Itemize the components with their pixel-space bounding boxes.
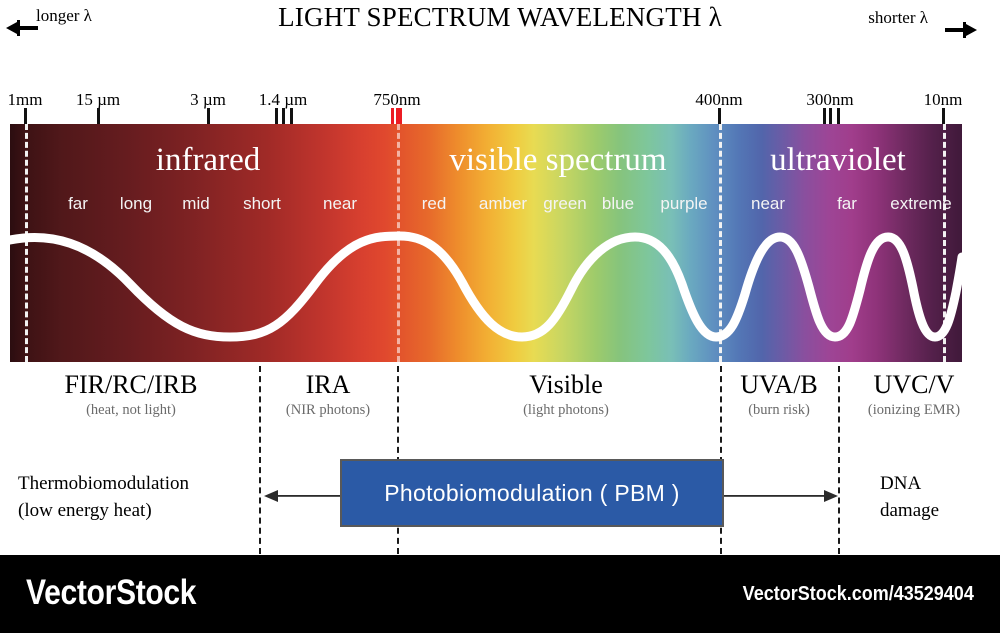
dna-damage-line2: damage <box>880 497 939 524</box>
pbm-arrow-right-icon <box>724 486 840 506</box>
spectrum-subregion-label: green <box>543 194 586 214</box>
wavelength-tick-label: 1mm <box>8 90 43 110</box>
spectrum-region-title: infrared <box>156 142 260 179</box>
thermobiomodulation-line2: (low energy heat) <box>18 497 189 524</box>
spectrum-subregion-label: extreme <box>890 194 951 214</box>
wavelength-tick-mark <box>282 108 285 124</box>
spectrum-zone: UVC/V(ionizing EMR) <box>764 370 1000 420</box>
spectrum-subregion-label: mid <box>182 194 209 214</box>
spectrum-zone-name: UVC/V <box>764 370 1000 400</box>
thermobiomodulation-line1: Thermobiomodulation <box>18 470 189 497</box>
vectorstock-url: VectorStock.com/43529404 <box>743 583 974 606</box>
wavelength-tick-label: 3 µm <box>190 90 226 110</box>
arrow-right-icon <box>944 22 978 43</box>
wavelength-tick-mark <box>24 108 27 124</box>
spectrum-subregion-label: near <box>751 194 785 214</box>
spectrum-subregion-label: short <box>243 194 281 214</box>
spectrum-subregion-label: blue <box>602 194 634 214</box>
spectrum-subregion-label: purple <box>660 194 707 214</box>
wavelength-tick-mark <box>823 108 826 124</box>
wavelength-tick-label: 300nm <box>806 90 853 110</box>
wavelength-tick-mark <box>399 108 402 124</box>
spectrum-band: infraredfarlongmidshortnearvisible spect… <box>10 124 962 362</box>
wavelength-tick-label: 750nm <box>373 90 420 110</box>
dna-damage-line1: DNA <box>880 470 939 497</box>
thermobiomodulation-note: Thermobiomodulation (low energy heat) <box>18 470 189 524</box>
wavelength-tick-label: 400nm <box>695 90 742 110</box>
spectrum-subregion-label: near <box>323 194 357 214</box>
spectrum-region-title: visible spectrum <box>449 142 666 179</box>
spectrum-subregion-label: red <box>422 194 447 214</box>
spectrum-region-title: ultraviolet <box>770 142 906 179</box>
shorter-wavelength-label: shorter λ <box>868 8 928 28</box>
wavelength-tick-mark <box>829 108 832 124</box>
light-spectrum-infographic: longer λ LIGHT SPECTRUM WAVELENGTH λ sho… <box>0 0 1000 633</box>
wavelength-tick-label: 10nm <box>924 90 963 110</box>
wavelength-tick-mark <box>275 108 278 124</box>
wavelength-tick-mark <box>391 108 394 124</box>
spectrum-subregion-label: far <box>837 194 857 214</box>
wavelength-tick-mark <box>837 108 840 124</box>
spectrum-subregion-label: amber <box>479 194 527 214</box>
photobiomodulation-label: Photobiomodulation ( PBM ) <box>384 480 679 507</box>
wavelength-tick-mark <box>97 108 100 124</box>
wavelength-tick-mark <box>718 108 721 124</box>
pbm-arrow-left-icon <box>262 486 342 506</box>
vectorstock-logo: VectorStock <box>26 573 196 613</box>
spectrum-zone-subtitle: (ionizing EMR) <box>764 400 1000 420</box>
wavelength-tick-mark <box>942 108 945 124</box>
zone-separator <box>838 366 840 554</box>
dna-damage-note: DNA damage <box>880 470 939 524</box>
spectrum-subregion-label: long <box>120 194 152 214</box>
spectrum-subregion-label: far <box>68 194 88 214</box>
footer-bar: VectorStock VectorStock.com/43529404 <box>0 555 1000 633</box>
wavelength-tick-mark <box>290 108 293 124</box>
wavelength-tick-label: 15 µm <box>76 90 120 110</box>
page-title: LIGHT SPECTRUM WAVELENGTH λ <box>0 2 1000 33</box>
wavelength-tick-label: 1.4 µm <box>259 90 308 110</box>
photobiomodulation-box[interactable]: Photobiomodulation ( PBM ) <box>340 459 724 527</box>
wavelength-tick-mark <box>207 108 210 124</box>
zone-separator <box>259 366 261 554</box>
